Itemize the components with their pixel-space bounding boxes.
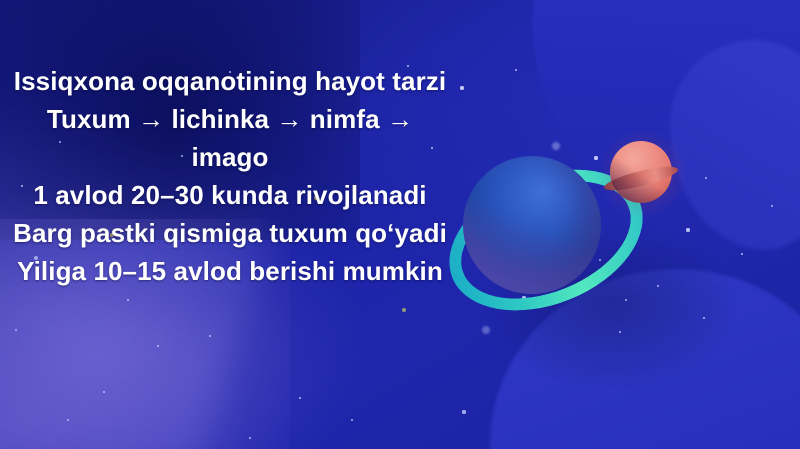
red-planet-icon	[606, 137, 680, 211]
red-planet-shadow	[610, 141, 672, 203]
star-dot	[157, 345, 159, 347]
slide-text-block: Issiqxona oqqanotining hayot tarzi Tuxum…	[8, 62, 452, 290]
star-dot	[686, 228, 689, 231]
star-dot	[209, 335, 211, 337]
star-dot	[249, 437, 251, 439]
slide-canvas: Issiqxona oqqanotining hayot tarzi Tuxum…	[0, 0, 800, 449]
star-dot	[462, 410, 465, 413]
blue-ringed-planet-icon	[447, 152, 617, 322]
star-dot	[552, 142, 560, 150]
star-dot	[619, 331, 621, 333]
star-dot	[460, 86, 463, 89]
slide-body-text: Issiqxona oqqanotining hayot tarzi Tuxum…	[8, 62, 452, 290]
